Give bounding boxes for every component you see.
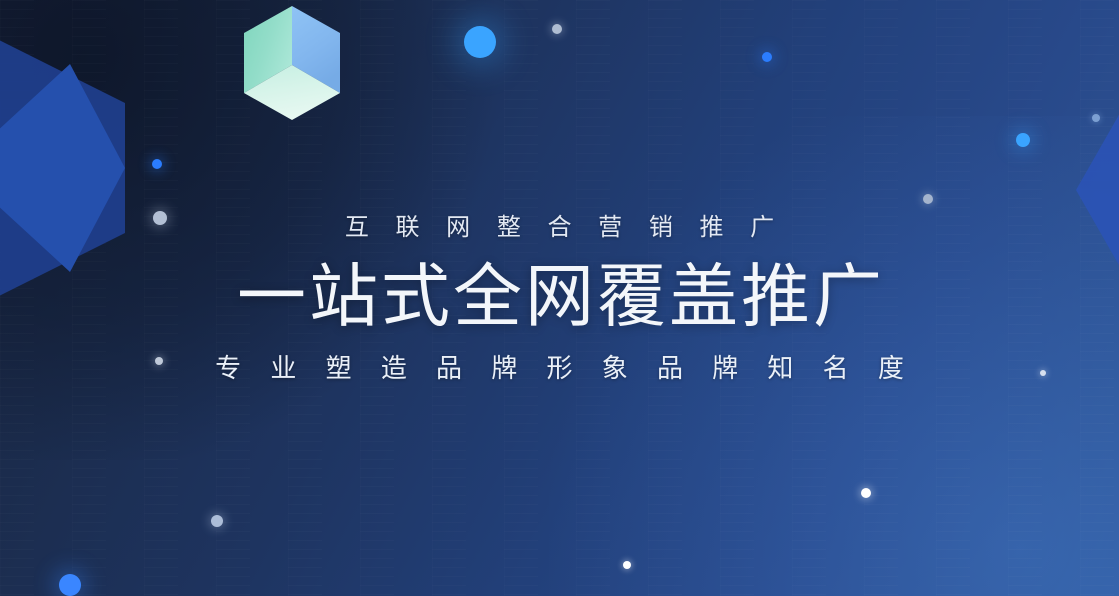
hero-tagline: 专 业 塑 造 品 牌 形 象 品 牌 知 名 度 xyxy=(0,355,1119,381)
hero-text-block: 互 联 网 整 合 营 销 推 广 一站式全网覆盖推广 专 业 塑 造 品 牌 … xyxy=(0,216,1119,381)
hero-banner: 互 联 网 整 合 营 销 推 广 一站式全网覆盖推广 专 业 塑 造 品 牌 … xyxy=(0,0,1119,596)
page-title: 一站式全网覆盖推广 xyxy=(0,260,1119,335)
hero-eyebrow: 互 联 网 整 合 营 销 推 广 xyxy=(0,216,1119,240)
